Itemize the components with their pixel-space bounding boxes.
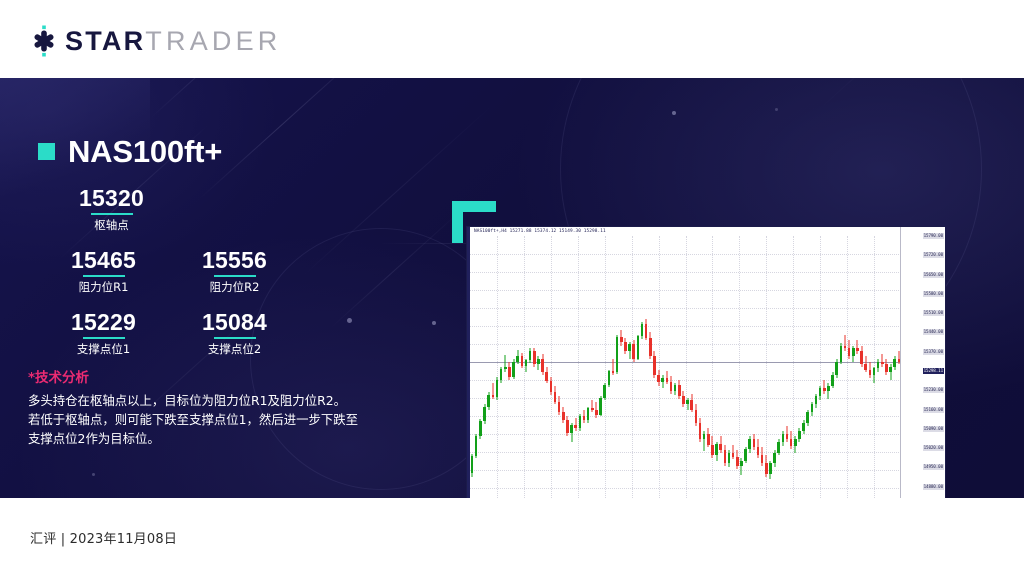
candlestick-body: [860, 351, 863, 364]
candlestick: [682, 236, 685, 498]
candlestick: [537, 236, 540, 498]
candlestick-body: [641, 324, 644, 337]
candlestick-body: [496, 380, 499, 397]
candlestick: [748, 236, 751, 498]
level-underline: [83, 275, 125, 277]
level-underline: [214, 275, 256, 277]
candlestick: [570, 236, 573, 498]
candlestick-body: [877, 362, 880, 369]
technical-analysis-heading: *技术分析: [28, 366, 408, 386]
candlestick-body: [583, 416, 586, 421]
candlestick-body: [608, 371, 611, 385]
candlestick-body: [802, 423, 805, 431]
candlestick: [844, 236, 847, 498]
candlestick: [670, 236, 673, 498]
candlestick-body: [835, 362, 838, 375]
candlestick: [529, 236, 532, 498]
candlestick: [599, 236, 602, 498]
candlestick: [603, 236, 606, 498]
candlestick-body: [653, 356, 656, 375]
level-support-2-value: 15084: [169, 310, 300, 335]
candlestick: [815, 236, 818, 498]
candlestick-body: [678, 385, 681, 396]
candlestick-body: [790, 439, 793, 446]
candlestick-body: [873, 368, 876, 375]
price-axis-tick: 14880.00: [923, 484, 944, 490]
candlestick-body: [782, 434, 785, 442]
candlestick-body: [773, 453, 776, 464]
candlestick-body: [525, 360, 528, 365]
candlestick: [620, 236, 623, 498]
candlestick: [695, 236, 698, 498]
candlestick-body: [579, 416, 582, 429]
candlestick-body: [649, 338, 652, 357]
decor-dot: [92, 473, 95, 476]
level-resistance-1-value: 15465: [38, 248, 169, 273]
candlestick: [769, 236, 772, 498]
candlestick: [612, 236, 615, 498]
candlestick-body: [765, 463, 768, 474]
candlestick-body: [840, 346, 843, 362]
candlestick-body: [637, 336, 640, 359]
candlestick-body: [628, 344, 631, 351]
level-support-1-value: 15229: [38, 310, 169, 335]
candlestick-body: [819, 388, 822, 396]
candlestick-body: [686, 400, 689, 405]
candlestick-body: [537, 359, 540, 364]
candlestick: [541, 236, 544, 498]
level-pivot-label: 枢轴点: [46, 218, 177, 232]
candlestick-body: [483, 407, 486, 421]
candlestick: [475, 236, 478, 498]
candlestick: [827, 236, 830, 498]
level-support-1: 15229 支撑点位1: [38, 310, 169, 372]
price-axis-tick: 14950.00: [923, 464, 944, 470]
candlestick: [711, 236, 714, 498]
candlestick: [487, 236, 490, 498]
candlestick: [740, 236, 743, 498]
title-bullet-icon: [38, 143, 55, 160]
candlestick-body: [632, 344, 635, 359]
candlestick: [678, 236, 681, 498]
pivot-row: 15320 枢轴点: [38, 186, 368, 248]
price-chart-window[interactable]: NAS100ft+,H4 15271.88 15374.12 15149.30 …: [466, 226, 946, 498]
candlestick-wick: [857, 340, 858, 353]
brand-name-primary: STAR: [65, 28, 145, 55]
price-axis-tick: 15790.00: [923, 233, 944, 239]
level-resistance-2-value: 15556: [169, 248, 300, 273]
technical-analysis: *技术分析 多头持仓在枢轴点以上，目标位为阻力位R1及阻力位R2。 若低于枢轴点…: [28, 366, 408, 448]
candlestick-body: [599, 398, 602, 415]
pivot-levels: 15320 枢轴点 15465 阻力位R1 15556 阻力位R2: [38, 186, 368, 372]
candlestick-body: [479, 421, 482, 436]
candlestick: [823, 236, 826, 498]
candlestick: [790, 236, 793, 498]
candlestick-body: [740, 461, 743, 466]
candlestick-wick: [505, 355, 506, 372]
candlestick: [707, 236, 710, 498]
candlestick: [587, 236, 590, 498]
candlestick: [686, 236, 689, 498]
candlestick: [595, 236, 598, 498]
candlestick-body: [545, 372, 548, 381]
candlestick: [761, 236, 764, 498]
candlestick: [753, 236, 756, 498]
candlestick-body: [885, 364, 888, 372]
current-price-label: 15298.11: [923, 368, 944, 374]
candlestick: [574, 236, 577, 498]
candlestick-body: [831, 375, 834, 386]
candlestick: [657, 236, 660, 498]
page-footer: 汇评 | 2023年11月08日: [0, 498, 1024, 576]
candlestick-body: [827, 386, 830, 391]
candlestick: [798, 236, 801, 498]
candlestick: [641, 236, 644, 498]
candlestick: [521, 236, 524, 498]
candlestick: [724, 236, 727, 498]
candlestick-body: [670, 382, 673, 391]
candlestick-wick: [592, 400, 593, 412]
candlestick-body: [806, 412, 809, 423]
brand-wordmark: STAR TRADER: [65, 28, 282, 55]
candlestick: [819, 236, 822, 498]
candlestick-body: [757, 447, 760, 455]
candlestick: [732, 236, 735, 498]
candlestick: [782, 236, 785, 498]
candlestick-body: [848, 348, 851, 356]
price-axis-tick: 15020.00: [923, 445, 944, 451]
candlestick-body: [504, 367, 507, 369]
analysis-line: 多头持仓在枢轴点以上，目标位为阻力位R1及阻力位R2。: [28, 391, 408, 410]
candlestick: [869, 236, 872, 498]
candlestick-body: [798, 431, 801, 438]
candlestick-body: [574, 425, 577, 428]
level-resistance-2: 15556 阻力位R2: [169, 248, 300, 310]
candlestick: [471, 236, 474, 498]
candlestick: [893, 236, 896, 498]
candlestick: [661, 236, 664, 498]
candlestick-body: [728, 453, 731, 464]
candlestick: [806, 236, 809, 498]
candlestick: [554, 236, 557, 498]
candlestick: [873, 236, 876, 498]
candlestick-body: [512, 362, 515, 378]
candlestick-body: [852, 348, 855, 356]
hero-panel: NAS100ft+ 15320 枢轴点 15465 阻力位R1 15556: [0, 78, 1024, 498]
candlestick-body: [471, 456, 474, 473]
candlestick-body: [736, 457, 739, 466]
candlestick-body: [856, 348, 859, 351]
candlestick: [885, 236, 888, 498]
candlestick: [562, 236, 565, 498]
candlestick: [583, 236, 586, 498]
candlestick-body: [500, 369, 503, 380]
level-resistance-1: 15465 阻力位R1: [38, 248, 169, 310]
candlestick: [728, 236, 731, 498]
candlestick-body: [703, 434, 706, 439]
candlestick: [500, 236, 503, 498]
candlestick: [508, 236, 511, 498]
candlestick-body: [612, 371, 615, 373]
candlestick: [690, 236, 693, 498]
instrument-name: NAS100ft+: [68, 136, 222, 167]
candlestick: [719, 236, 722, 498]
candlestick-body: [533, 351, 536, 364]
candlestick: [637, 236, 640, 498]
candlestick-body: [562, 412, 565, 421]
candlestick-body: [554, 392, 557, 401]
candlestick: [632, 236, 635, 498]
candlestick-body: [566, 420, 569, 433]
candlestick-body: [587, 408, 590, 420]
level-resistance-1-label: 阻力位R1: [38, 280, 169, 294]
candlestick: [744, 236, 747, 498]
candlestick: [881, 236, 884, 498]
candlestick: [516, 236, 519, 498]
candlestick: [674, 236, 677, 498]
candlestick: [852, 236, 855, 498]
analysis-line: 若低于枢轴点，则可能下跌至支撑点位1，然后进一步下跌至: [28, 410, 408, 429]
candlestick-wick: [882, 354, 883, 367]
level-underline: [91, 213, 133, 215]
chart-inner: NAS100ft+,H4 15271.88 15374.12 15149.30 …: [467, 227, 945, 498]
candlestick: [802, 236, 805, 498]
candlestick-body: [529, 351, 532, 360]
candlestick: [525, 236, 528, 498]
poster-root: STAR TRADER NAS100ft+: [0, 0, 1024, 576]
candlestick-body: [794, 439, 797, 446]
candlestick-body: [516, 356, 519, 361]
support-row: 15229 支撑点位1 15084 支撑点位2: [38, 310, 368, 372]
candlestick-body: [695, 410, 698, 423]
candlestick: [856, 236, 859, 498]
candlestick-body: [769, 463, 772, 474]
page-header: STAR TRADER: [0, 0, 1024, 78]
candlestick-body: [719, 444, 722, 450]
candlestick-body: [620, 337, 623, 342]
candlestick: [645, 236, 648, 498]
candlestick: [624, 236, 627, 498]
price-axis-tick: 15230.00: [923, 387, 944, 393]
candlestick-body: [541, 359, 544, 372]
price-axis-tick: 15510.00: [923, 310, 944, 316]
candlestick-body: [823, 388, 826, 391]
candlestick: [492, 236, 495, 498]
candlestick-body: [624, 342, 627, 351]
candlestick-body: [682, 396, 685, 404]
level-resistance-2-label: 阻力位R2: [169, 280, 300, 294]
instrument-title: NAS100ft+: [38, 136, 222, 167]
candlestick-body: [690, 400, 693, 410]
chart-title-label: NAS100ft+,H4 15271.88 15374.12 15149.30 …: [474, 228, 606, 235]
candlestick: [558, 236, 561, 498]
candlestick-body: [869, 370, 872, 375]
candlestick-body: [748, 439, 751, 449]
candlestick-body: [661, 378, 664, 383]
star-asterisk-icon: [28, 25, 60, 57]
candlestick-body: [811, 404, 814, 412]
candlestick: [479, 236, 482, 498]
candlestick-body: [595, 410, 598, 415]
candlestick: [628, 236, 631, 498]
candlestick-body: [889, 367, 892, 372]
candlestick-body: [666, 378, 669, 382]
price-axis-tick: 15160.00: [923, 407, 944, 413]
candlestick: [889, 236, 892, 498]
candlestick: [864, 236, 867, 498]
candlestick: [649, 236, 652, 498]
level-support-1-label: 支撑点位1: [38, 342, 169, 356]
candlestick: [653, 236, 656, 498]
candlestick-body: [744, 449, 747, 460]
candlestick: [831, 236, 834, 498]
candlestick-body: [475, 436, 478, 456]
candlestick-body: [724, 450, 727, 463]
candlestick-body: [711, 445, 714, 456]
candlestick: [566, 236, 569, 498]
candlestick: [591, 236, 594, 498]
level-pivot-value: 15320: [46, 186, 177, 211]
candlestick-body: [508, 367, 511, 377]
candlestick: [699, 236, 702, 498]
candlestick: [616, 236, 619, 498]
candlestick-body: [657, 375, 660, 382]
candlestick-body: [492, 395, 495, 397]
candlestick: [715, 236, 718, 498]
candlestick-body: [815, 396, 818, 404]
brand-logo[interactable]: STAR TRADER: [28, 26, 282, 56]
candlestick: [550, 236, 553, 498]
candlestick: [666, 236, 669, 498]
price-axis-tick: 15440.00: [923, 329, 944, 335]
candlestick-body: [777, 442, 780, 453]
candlestick: [811, 236, 814, 498]
candlestick: [504, 236, 507, 498]
candlestick-body: [844, 346, 847, 349]
candlestick: [794, 236, 797, 498]
candlestick: [860, 236, 863, 498]
resistance-row: 15465 阻力位R1 15556 阻力位R2: [38, 248, 368, 310]
candlestick-body: [715, 444, 718, 455]
candlestick-body: [591, 408, 594, 410]
candlestick: [545, 236, 548, 498]
footer-caption: 汇评 | 2023年11月08日: [30, 528, 177, 547]
candlestick: [835, 236, 838, 498]
level-underline: [214, 337, 256, 339]
candlestick: [777, 236, 780, 498]
candlestick-body: [487, 395, 490, 407]
level-support-2-label: 支撑点位2: [169, 342, 300, 356]
price-axis-tick: 15580.00: [923, 291, 944, 297]
candlestick-body: [603, 385, 606, 398]
candlestick: [608, 236, 611, 498]
candlestick: [483, 236, 486, 498]
candlestick-body: [558, 402, 561, 412]
level-pivot: 15320 枢轴点: [46, 186, 177, 248]
candlestick-body: [732, 453, 735, 457]
candlestick: [765, 236, 768, 498]
candlestick: [786, 236, 789, 498]
candlestick-body: [699, 423, 702, 439]
level-support-2: 15084 支撑点位2: [169, 310, 300, 372]
candlestick: [533, 236, 536, 498]
candlestick-body: [550, 381, 553, 392]
candlestick-body: [864, 364, 867, 369]
price-axis-tick: 15650.00: [923, 272, 944, 278]
candlestick-body: [521, 356, 524, 365]
candlestick: [757, 236, 760, 498]
candlestick-body: [761, 455, 764, 463]
candlestick-body: [881, 362, 884, 365]
candlestick-body: [893, 359, 896, 367]
price-axis-tick: 15370.00: [923, 349, 944, 355]
level-underline: [83, 337, 125, 339]
candlestick-body: [570, 425, 573, 433]
candlestick-body: [707, 434, 710, 445]
candlestick: [848, 236, 851, 498]
candlestick: [703, 236, 706, 498]
candlestick: [877, 236, 880, 498]
price-axis-tick: 15720.00: [923, 252, 944, 258]
candlestick-body: [645, 324, 648, 338]
candlestick-wick: [845, 335, 846, 351]
candlestick-wick: [824, 380, 825, 393]
price-axis[interactable]: 15790.0015720.0015650.0015580.0015510.00…: [900, 227, 945, 498]
analysis-line: 支撑点位2作为目标位。: [28, 429, 408, 448]
candlestick-body: [753, 439, 756, 447]
candlestick: [840, 236, 843, 498]
candlestick-plot[interactable]: [470, 236, 901, 498]
candlestick: [773, 236, 776, 498]
brand-name-secondary: TRADER: [145, 28, 281, 55]
candlestick: [736, 236, 739, 498]
candlestick-body: [616, 337, 619, 372]
candlestick: [512, 236, 515, 498]
candlestick: [579, 236, 582, 498]
price-axis-tick: 15090.00: [923, 426, 944, 432]
candlestick: [496, 236, 499, 498]
candlestick-body: [786, 434, 789, 439]
technical-analysis-body: 多头持仓在枢轴点以上，目标位为阻力位R1及阻力位R2。 若低于枢轴点，则可能下跌…: [28, 391, 408, 448]
candlestick-body: [674, 385, 677, 391]
